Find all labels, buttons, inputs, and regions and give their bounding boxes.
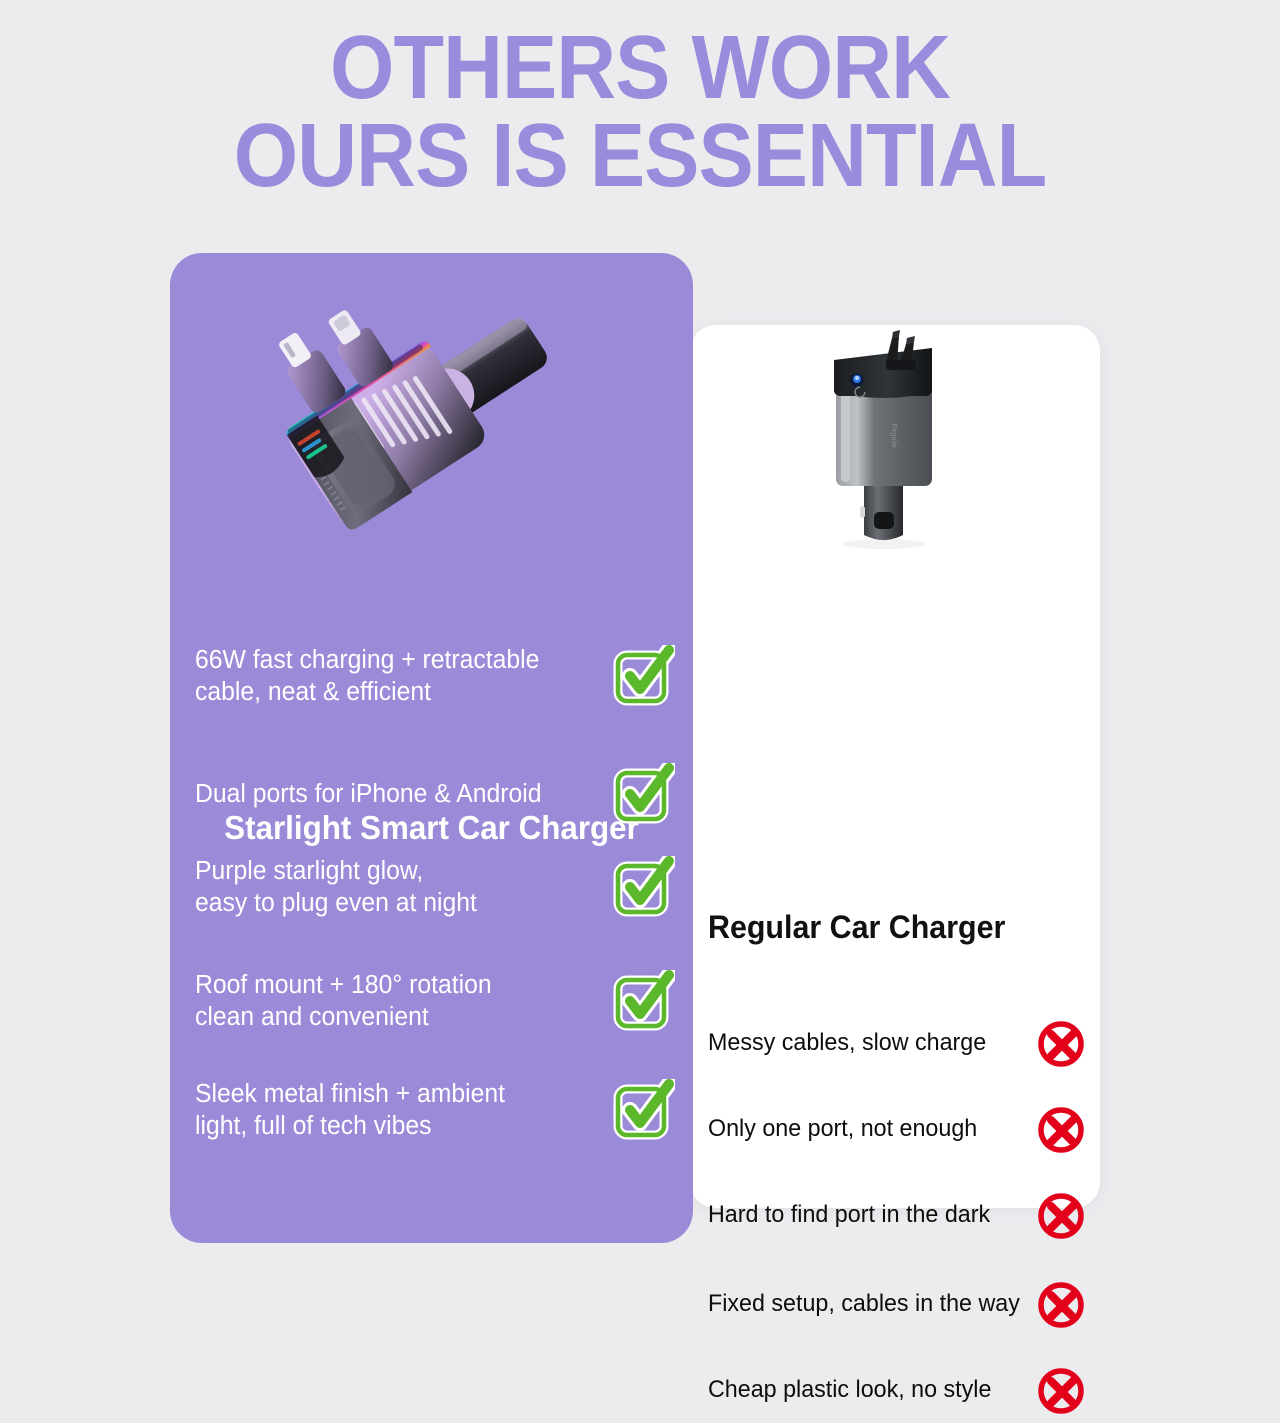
con-row: Messy cables, slow charge: [708, 1015, 1090, 1071]
feature-row: Sleek metal finish + ambient light, full…: [195, 1078, 675, 1142]
red-cross-icon: [1034, 1187, 1090, 1243]
green-check-icon: [613, 856, 675, 918]
feature-row: Purple starlight glow, easy to plug even…: [195, 855, 675, 919]
red-cross-icon: [1034, 1101, 1090, 1157]
feature-label: Sleek metal finish + ambient light, full…: [195, 1078, 583, 1142]
feature-row: 66W fast charging + retractable cable, n…: [195, 644, 675, 708]
page-title-line-2: OURS IS ESSENTIAL: [51, 112, 1229, 200]
con-label: Hard to find port in the dark: [708, 1200, 990, 1230]
green-check-icon: [613, 1079, 675, 1141]
feature-label: Roof mount + 180° rotation clean and con…: [195, 969, 583, 1033]
feature-row: Dual ports for iPhone & Android: [195, 763, 675, 825]
green-check-icon: [613, 763, 675, 825]
green-check-icon: [613, 970, 675, 1032]
regular-charger-title: Regular Car Charger: [708, 909, 1005, 946]
feature-label: Dual ports for iPhone & Android: [195, 778, 583, 810]
starlight-charger-card: Starlight Smart Car Charger 66W fast cha…: [170, 253, 693, 1243]
con-row: Fixed setup, cables in the way: [708, 1276, 1090, 1332]
starlight-charger-product-image: [248, 262, 578, 547]
con-label: Cheap plastic look, no style: [708, 1375, 991, 1405]
red-cross-icon: [1034, 1362, 1090, 1418]
svg-text:Regular: Regular: [890, 424, 897, 449]
con-label: Only one port, not enough: [708, 1114, 977, 1144]
con-row: Cheap plastic look, no style: [708, 1362, 1090, 1418]
con-row: Hard to find port in the dark: [708, 1187, 1090, 1243]
red-cross-icon: [1034, 1276, 1090, 1332]
regular-charger-product-image: Regular: [800, 330, 980, 550]
feature-label: Purple starlight glow, easy to plug even…: [195, 855, 583, 919]
green-check-icon: [613, 645, 675, 707]
con-label: Fixed setup, cables in the way: [708, 1289, 1020, 1319]
red-cross-icon: [1034, 1015, 1090, 1071]
con-row: Only one port, not enough: [708, 1101, 1090, 1157]
feature-row: Roof mount + 180° rotation clean and con…: [195, 969, 675, 1033]
regular-charger-card: Regular Regular Car Charger Messy cables…: [690, 325, 1100, 1208]
feature-label: 66W fast charging + retractable cable, n…: [195, 644, 583, 708]
page-title: OTHERS WORK OURS IS ESSENTIAL: [51, 24, 1229, 200]
con-label: Messy cables, slow charge: [708, 1028, 986, 1058]
page-title-line-1: OTHERS WORK: [51, 24, 1229, 112]
